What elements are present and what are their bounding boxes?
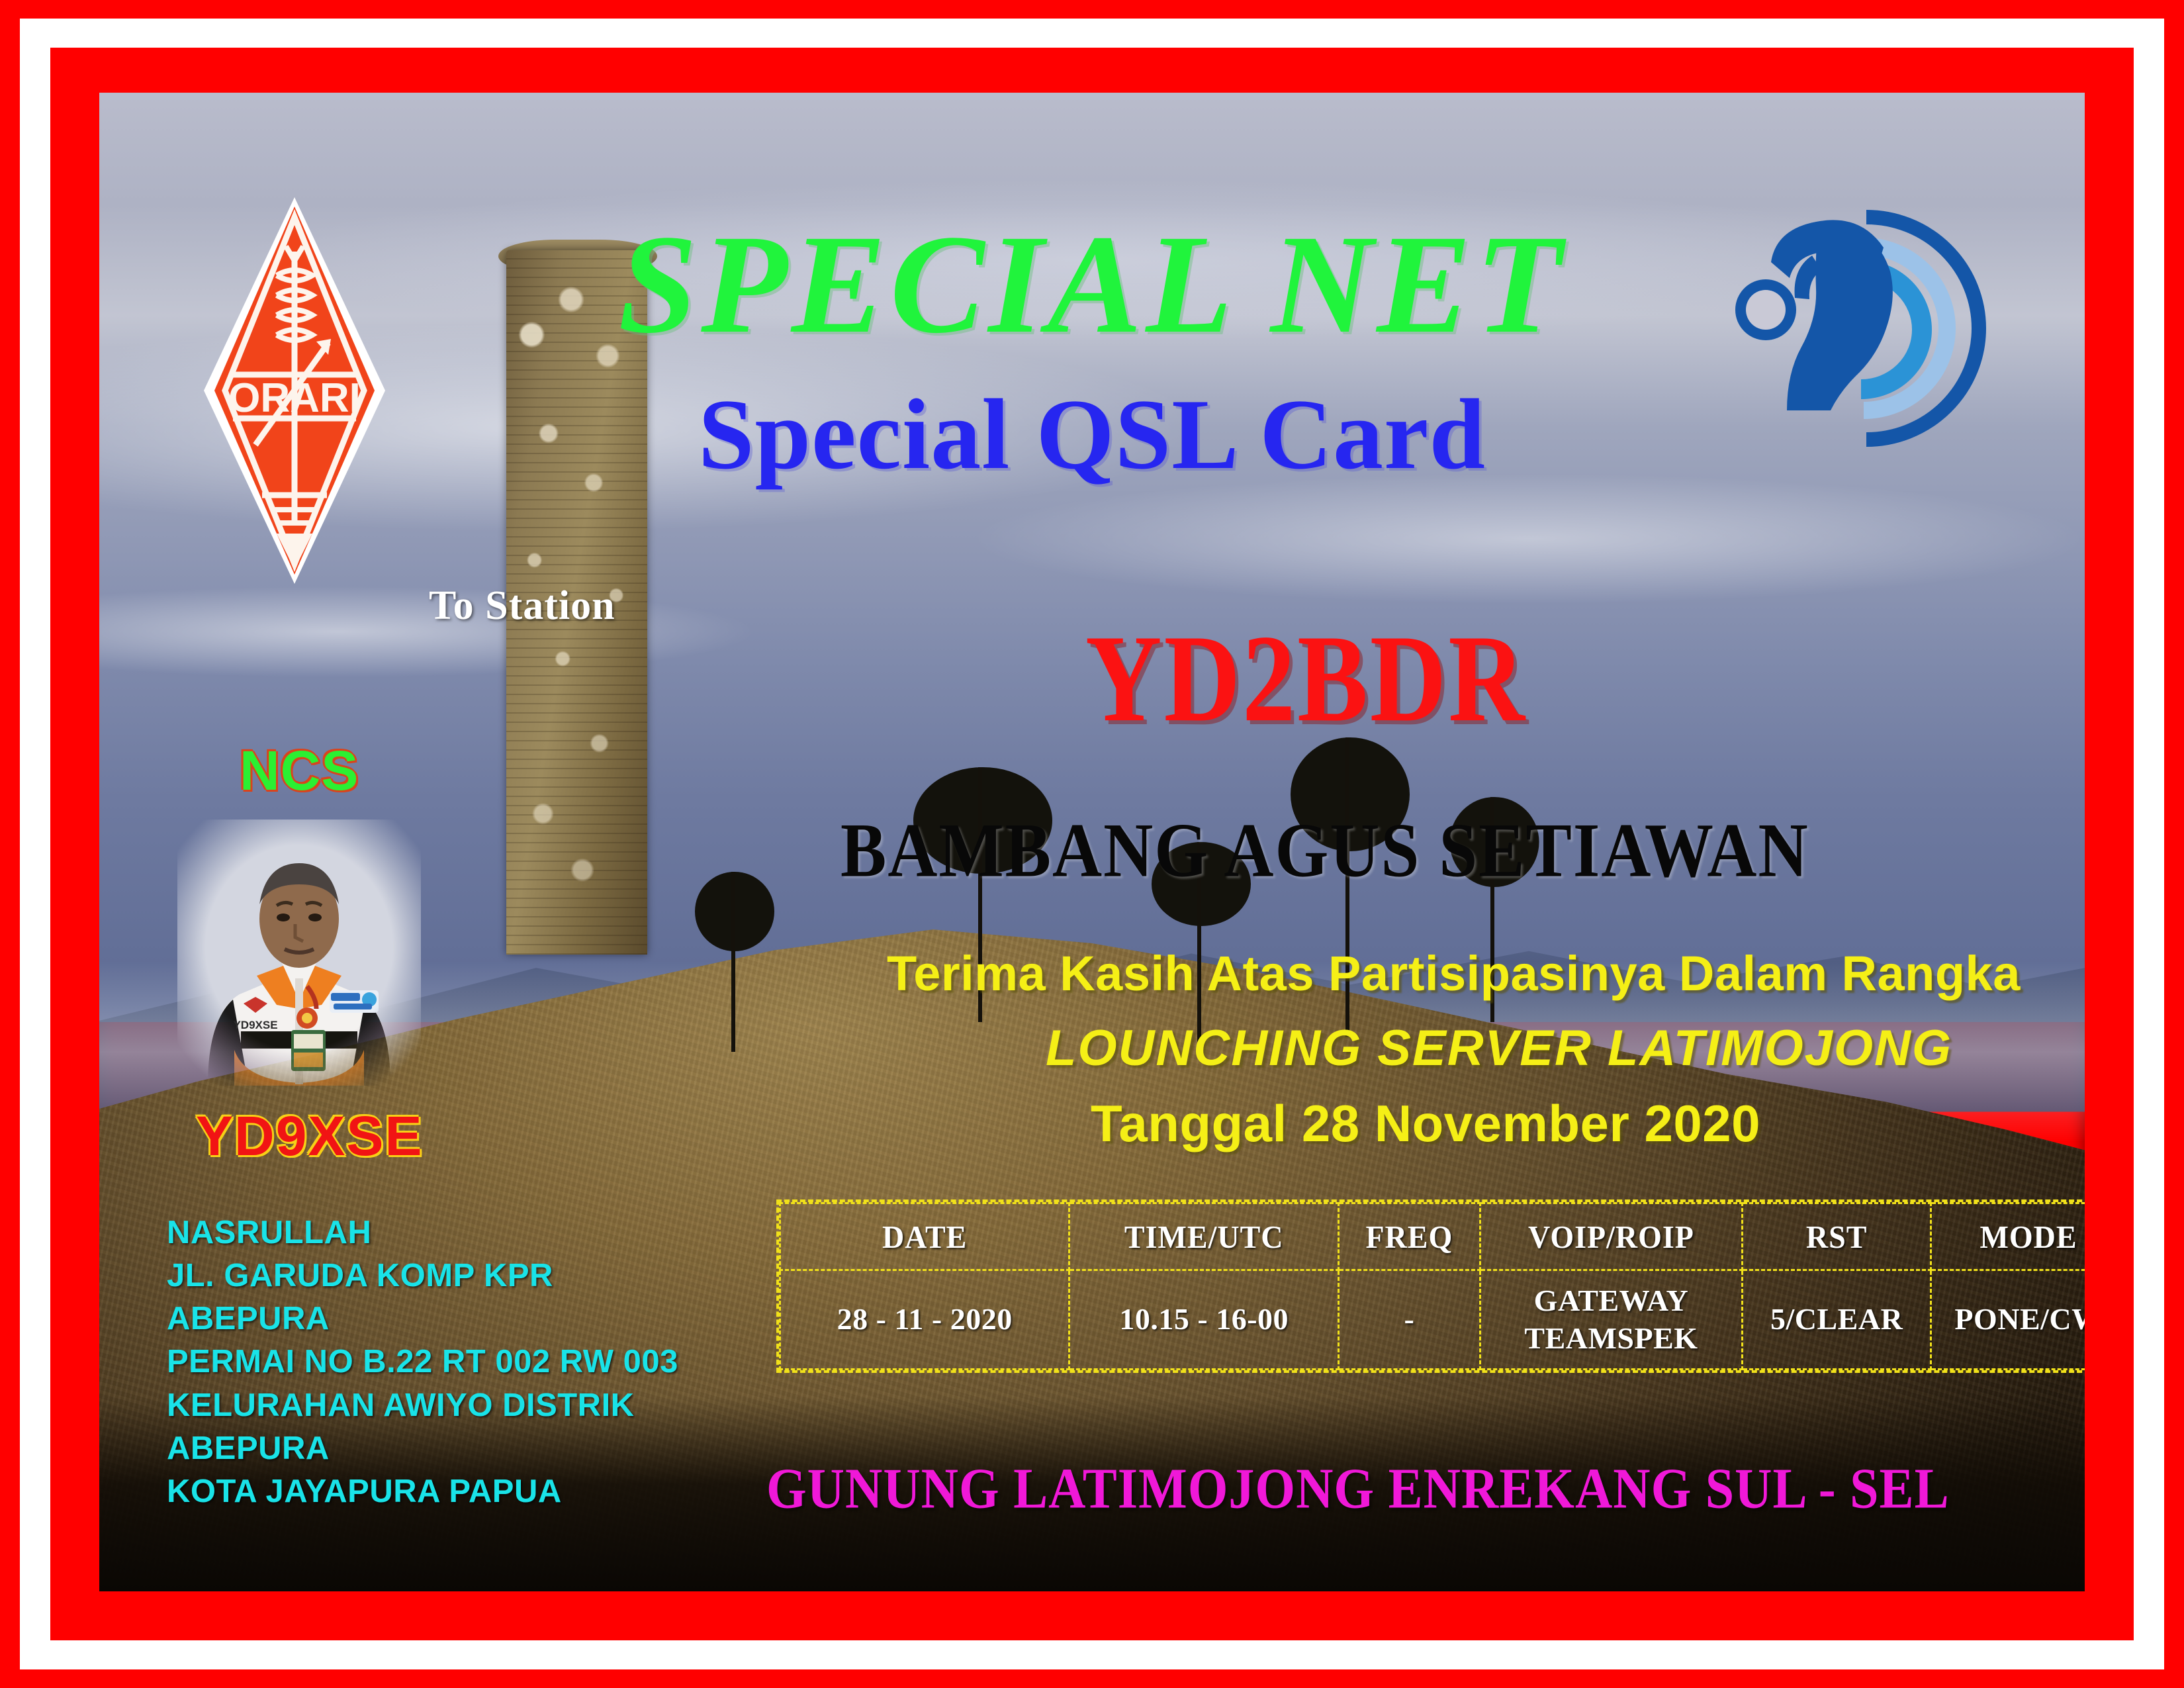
column-header-date: DATE — [780, 1201, 1069, 1272]
address-line: ABEPURA — [167, 1427, 678, 1470]
card-photo-area: ORARI SPECIAL NET Special Q — [99, 93, 2085, 1591]
column-header-rst: RST — [1743, 1201, 1931, 1272]
address-line: KELURAHAN AWIYO DISTRIK — [167, 1384, 678, 1427]
event-title: LOUNCHING SERVER LATIMOJONG — [1046, 1019, 1952, 1077]
headset-operator-logo — [1734, 199, 1999, 457]
event-date: Tanggal 28 November 2020 — [1091, 1094, 1760, 1154]
ncs-callsign: YD9XSE — [196, 1104, 424, 1168]
column-header-voip-roip: VOIP/ROIP — [1480, 1201, 1743, 1272]
address-line: PERMAI NO B.22 RT 002 RW 003 — [167, 1340, 678, 1383]
address-line: NASRULLAH — [167, 1211, 678, 1254]
card-border-red-inner: ORARI SPECIAL NET Special Q — [50, 48, 2134, 1640]
svg-text:YD9XSE: YD9XSE — [233, 1019, 277, 1031]
address-line: JL. GARUDA KOMP KPR — [167, 1254, 678, 1297]
operator-name: BAMBANG AGUS SETIAWAN — [841, 806, 1809, 894]
column-header-freq: FREQ — [1339, 1201, 1480, 1272]
column-header-time: TIME/UTC — [1069, 1201, 1339, 1272]
to-station-label: To Station — [429, 583, 615, 630]
page-subtitle: Special QSL Card — [698, 384, 1486, 485]
thanks-line-1: Terima Kasih Atas Partisipasinya Dalam R… — [887, 945, 2021, 1002]
address-line: KOTA JAYAPURA PAPUA — [167, 1470, 678, 1513]
cell-voip-roip: GATEWAYTEAMSPEK — [1480, 1270, 1743, 1370]
page-title: SPECIAL NET — [618, 214, 1566, 355]
orari-logo: ORARI — [199, 192, 390, 589]
table-row: 28 - 11 - 2020 10.15 - 16-00 - GATEWAYTE… — [780, 1270, 2085, 1370]
tree-silhouette — [695, 872, 774, 1052]
event-location: GUNUNG LATIMOJONG ENREKANG SUL - SEL — [766, 1455, 1950, 1522]
cell-mode: PONE/CW — [1931, 1270, 2085, 1370]
cell-time: 10.15 - 16-00 — [1069, 1270, 1339, 1370]
ncs-label: NCS — [240, 739, 359, 803]
table-header-row: DATE TIME/UTC FREQ VOIP/ROIP RST MODE — [780, 1203, 2085, 1270]
cell-date: 28 - 11 - 2020 — [780, 1270, 1069, 1370]
qso-table: DATE TIME/UTC FREQ VOIP/ROIP RST MODE 28… — [776, 1199, 2085, 1373]
card-border-white: ORARI SPECIAL NET Special Q — [20, 19, 2164, 1669]
address-line: ABEPURA — [167, 1297, 678, 1340]
column-header-mode: MODE — [1931, 1201, 2085, 1272]
station-callsign: YD2BDR — [1085, 616, 1527, 741]
cell-freq: - — [1339, 1270, 1480, 1370]
cell-rst: 5/CLEAR — [1743, 1270, 1931, 1370]
ncs-operator-photo: YD9XSE — [177, 820, 421, 1086]
ncs-address-block: NASRULLAH JL. GARUDA KOMP KPR ABEPURA PE… — [167, 1211, 678, 1513]
qsl-card: ORARI SPECIAL NET Special Q — [0, 0, 2184, 1688]
orari-logo-text: ORARI — [228, 375, 361, 421]
